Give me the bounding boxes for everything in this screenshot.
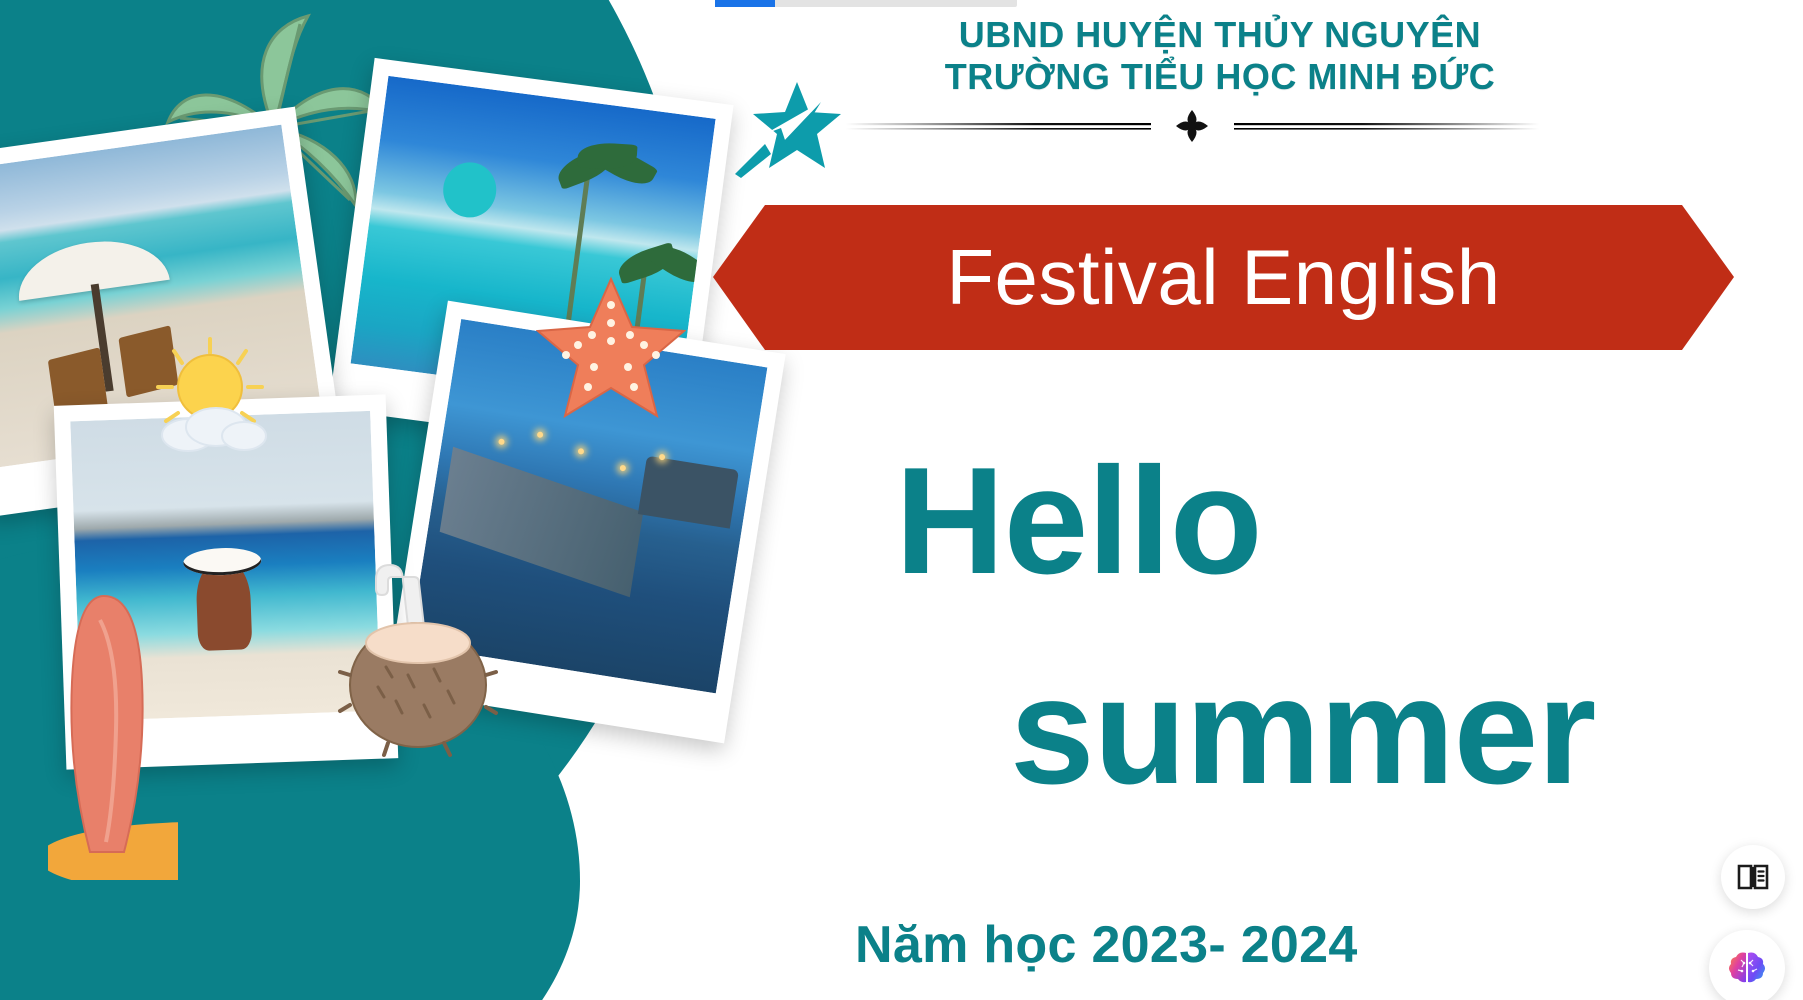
headline-hello: Hello bbox=[895, 445, 1262, 597]
sun-hat bbox=[183, 547, 262, 577]
pier-lamp bbox=[578, 448, 585, 455]
page-progress-fill bbox=[715, 0, 775, 7]
open-book-icon bbox=[1736, 860, 1770, 894]
school-header: UBND HUYỆN THỦY NGUYÊN TRƯỜNG TIỂU HỌC M… bbox=[760, 14, 1680, 98]
pier-lamp bbox=[498, 439, 505, 446]
sun-cloud-icon bbox=[130, 335, 290, 455]
coconut-drink-icon bbox=[338, 535, 498, 760]
starfish-icon bbox=[536, 275, 686, 420]
headline-summer: summer bbox=[1010, 655, 1595, 807]
school-year-label: Năm học 2023- 2024 bbox=[855, 915, 1358, 975]
star-paper-plane-icon bbox=[735, 78, 845, 178]
presentation-slide: UBND HUYỆN THỦY NGUYÊN TRƯỜNG TIỂU HỌC M… bbox=[0, 0, 1803, 1000]
ai-assistant-button[interactable] bbox=[1709, 930, 1785, 1000]
pier-lamp bbox=[537, 431, 544, 438]
page-progress-bar[interactable] bbox=[715, 0, 1017, 7]
pier-lamp bbox=[619, 464, 626, 471]
header-line-district: UBND HUYỆN THỦY NGUYÊN bbox=[760, 14, 1680, 56]
pier-hut bbox=[638, 455, 739, 528]
dictionary-button[interactable] bbox=[1721, 845, 1785, 909]
teal-circle-overlay bbox=[440, 160, 500, 222]
brain-icon bbox=[1727, 948, 1767, 988]
header-line-school: TRƯỜNG TIỂU HỌC MINH ĐỨC bbox=[760, 56, 1680, 98]
surfboard-icon bbox=[48, 590, 178, 880]
diamond-ornament-divider bbox=[840, 110, 1545, 142]
festival-banner-label: Festival English bbox=[765, 205, 1682, 350]
